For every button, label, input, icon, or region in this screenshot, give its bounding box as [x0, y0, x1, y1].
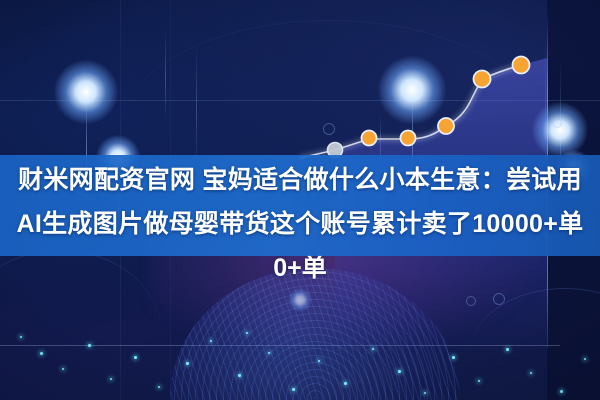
headline-line-1: 财米网配资官网 宝妈适合做什么小本生意：尝试用	[0, 158, 600, 202]
promo-banner: 0+单 财米网配资官网 宝妈适合做什么小本生意：尝试用 AI生成图片做母婴带货这…	[0, 0, 600, 400]
headline-text: 财米网配资官网 宝妈适合做什么小本生意：尝试用 AI生成图片做母婴带货这个账号累…	[0, 158, 600, 246]
headline-line-2: AI生成图片做母婴带货这个账号累计卖了10000+单	[0, 202, 600, 246]
